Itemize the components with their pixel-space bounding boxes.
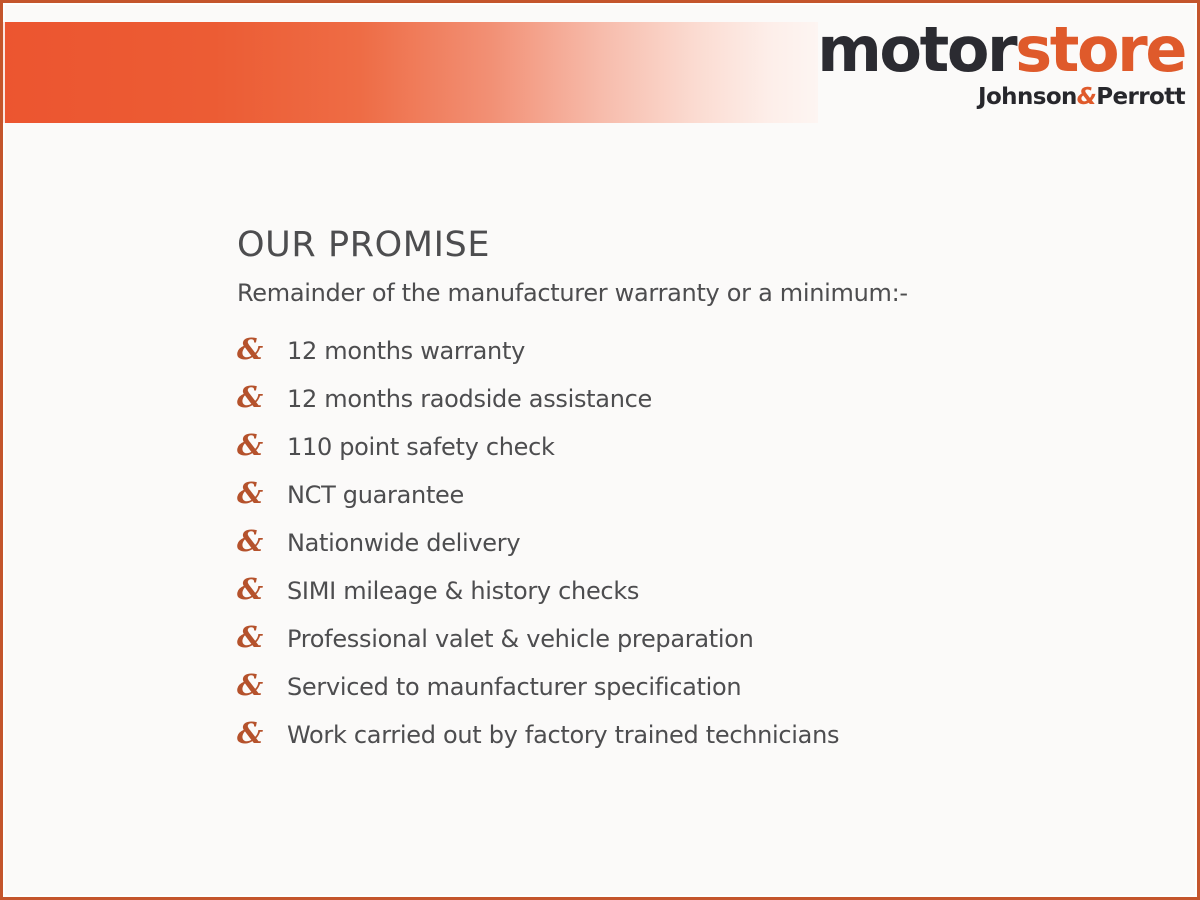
logo-subtitle-johnson: Johnson bbox=[978, 84, 1077, 110]
logo-word-motor: motor bbox=[817, 13, 1015, 86]
list-item: & Nationwide delivery bbox=[237, 527, 1137, 575]
ampersand-bullet-icon: & bbox=[237, 671, 287, 700]
promise-list: & 12 months warranty & 12 months raodsid… bbox=[237, 335, 1137, 767]
ampersand-bullet-icon: & bbox=[237, 527, 287, 556]
list-item: & Professional valet & vehicle preparati… bbox=[237, 623, 1137, 671]
list-item: & Serviced to maunfacturer specification bbox=[237, 671, 1137, 719]
ampersand-bullet-icon: & bbox=[237, 479, 287, 508]
logo-subtitle-perrott: Perrott bbox=[1096, 84, 1185, 110]
list-item-label: NCT guarantee bbox=[287, 481, 464, 509]
list-item: & SIMI mileage & history checks bbox=[237, 575, 1137, 623]
promise-slide: motorstore Johnson&Perrott OUR PROMISE R… bbox=[0, 0, 1200, 900]
list-item-label: Professional valet & vehicle preparation bbox=[287, 625, 754, 653]
list-item-label: 12 months warranty bbox=[287, 337, 525, 365]
list-item-label: Nationwide delivery bbox=[287, 529, 520, 557]
page-title: OUR PROMISE bbox=[237, 225, 1137, 265]
list-item: & Work carried out by factory trained te… bbox=[237, 719, 1137, 767]
logo-word-store: store bbox=[1015, 13, 1185, 86]
ampersand-bullet-icon: & bbox=[237, 575, 287, 604]
motorstore-logo: motorstore Johnson&Perrott bbox=[817, 19, 1185, 109]
list-item: & 12 months warranty bbox=[237, 335, 1137, 383]
promise-subtitle: Remainder of the manufacturer warranty o… bbox=[237, 279, 1137, 307]
logo-wordmark: motorstore bbox=[817, 19, 1185, 81]
logo-subtitle-ampersand: & bbox=[1077, 84, 1096, 110]
ampersand-bullet-icon: & bbox=[237, 335, 287, 364]
list-item: & 110 point safety check bbox=[237, 431, 1137, 479]
slide-header: motorstore Johnson&Perrott bbox=[3, 3, 1197, 131]
list-item: & NCT guarantee bbox=[237, 479, 1137, 527]
ampersand-bullet-icon: & bbox=[237, 431, 287, 460]
list-item: & 12 months raodside assistance bbox=[237, 383, 1137, 431]
orange-gradient-banner bbox=[0, 22, 818, 123]
list-item-label: SIMI mileage & history checks bbox=[287, 577, 639, 605]
ampersand-bullet-icon: & bbox=[237, 383, 287, 412]
list-item-label: 110 point safety check bbox=[287, 433, 555, 461]
logo-subtitle: Johnson&Perrott bbox=[817, 86, 1185, 109]
ampersand-bullet-icon: & bbox=[237, 623, 287, 652]
list-item-label: Work carried out by factory trained tech… bbox=[287, 721, 839, 749]
list-item-label: 12 months raodside assistance bbox=[287, 385, 652, 413]
promise-content: OUR PROMISE Remainder of the manufacture… bbox=[237, 225, 1137, 767]
list-item-label: Serviced to maunfacturer specification bbox=[287, 673, 741, 701]
ampersand-bullet-icon: & bbox=[237, 719, 287, 748]
